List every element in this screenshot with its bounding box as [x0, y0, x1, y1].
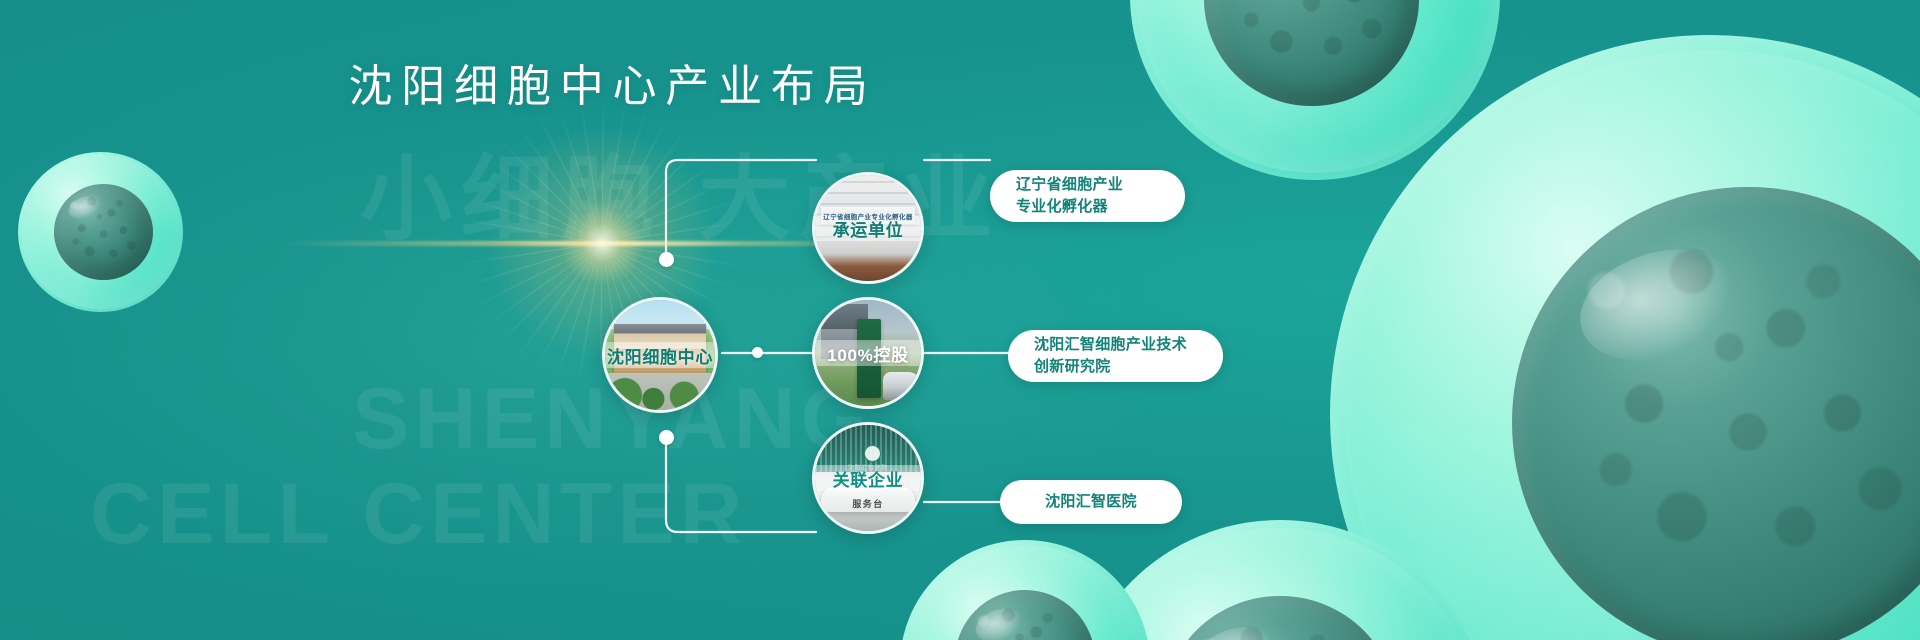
hospital-emblem-icon	[864, 445, 881, 462]
banner-stage: 小细胞 大产业 SHENYANG CELL CENTER 沈阳细胞中心产业布局 …	[0, 0, 1920, 640]
junction-dot-middle	[752, 347, 763, 358]
pill-hospital-text: 沈阳汇智医院	[1045, 491, 1137, 513]
node-holding-100[interactable]: 100%控股	[812, 297, 924, 409]
pill-incubator-text: 辽宁省细胞产业 专业化孵化器	[1016, 174, 1123, 218]
pill-research-institute[interactable]: 沈阳汇智细胞产业技术 创新研究院	[1008, 330, 1223, 382]
reception-desk-text: 服务台	[815, 497, 921, 510]
pill-hospital[interactable]: 沈阳汇智医院	[1000, 480, 1182, 524]
junction-dot-bottom	[659, 430, 674, 445]
node-carrier-unit[interactable]: 辽宁省细胞产业专业化孵化器 承运单位	[812, 172, 924, 284]
node-holding-label: 100%控股	[827, 341, 909, 366]
connector-lines	[0, 0, 1920, 640]
junction-dot-top	[659, 252, 674, 267]
connector-center-to-bottom	[666, 437, 816, 532]
node-center-cell-center[interactable]: 沈阳细胞中心	[602, 297, 718, 413]
parked-car-shape	[883, 372, 919, 400]
node-affiliated-label: 关联企业	[833, 466, 904, 491]
node-center-label: 沈阳细胞中心	[607, 343, 713, 368]
node-carrier-unit-label: 承运单位	[833, 216, 904, 241]
pill-research-institute-text: 沈阳汇智细胞产业技术 创新研究院	[1034, 334, 1187, 378]
node-affiliated-enterprise[interactable]: 沈阳汇智医院 关联企业 服务台	[812, 422, 924, 534]
pill-incubator[interactable]: 辽宁省细胞产业 专业化孵化器	[990, 170, 1185, 222]
